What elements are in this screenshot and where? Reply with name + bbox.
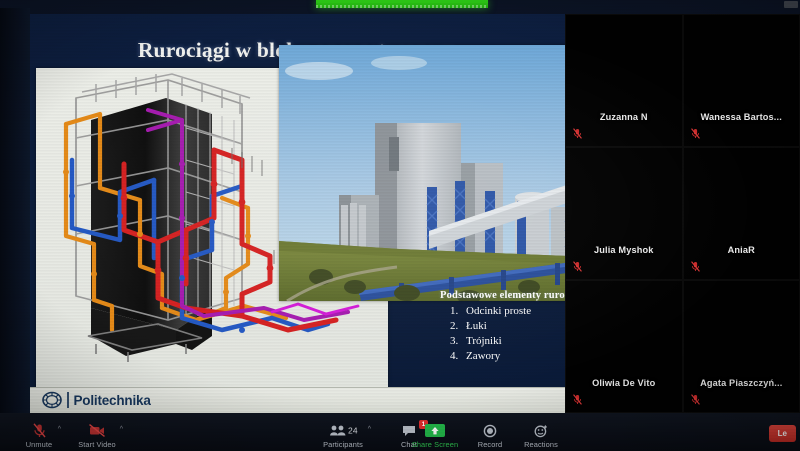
slide-footer: Politechnika	[30, 387, 565, 413]
reactions-label: Reactions	[506, 440, 576, 449]
participant-tile[interactable]: Agata Piaszczyń...	[683, 280, 800, 413]
gear-logo-icon	[42, 391, 62, 409]
politechnika-logo: Politechnika	[42, 391, 151, 409]
start-video-label: Start Video	[62, 440, 132, 449]
participant-name: AniaR	[684, 245, 800, 255]
bullet-heading: Podstawowe elementy rurociągu	[440, 290, 565, 301]
list-item-label: Trójniki	[466, 334, 502, 349]
participant-name: Agata Piaszczyń...	[684, 378, 800, 388]
list-item: 2. Łuki	[440, 319, 565, 334]
bullet-list: Podstawowe elementy rurociągu 1. Odcinki…	[440, 290, 565, 364]
participant-name: Julia Myshok	[566, 245, 682, 255]
list-item-number: 2.	[440, 319, 466, 334]
participant-name: Wanessa Bartos...	[684, 112, 800, 122]
svg-text:24: 24	[348, 426, 358, 436]
list-item-number: 4.	[440, 349, 466, 364]
list-item: 4. Zawory	[440, 349, 565, 364]
muted-mic-icon	[573, 261, 582, 272]
muted-mic-icon	[691, 261, 700, 272]
participant-tile[interactable]: Julia Myshok	[565, 147, 683, 280]
leave-meeting-button[interactable]: Le	[769, 425, 796, 442]
zoom-toolbar[interactable]: Unmute ^ Start Video ^ 24	[0, 413, 800, 451]
start-video-button[interactable]: Start Video ^	[62, 422, 132, 449]
participants-label: Participants	[308, 440, 378, 449]
power-plant-rendering-icon	[279, 45, 565, 301]
muted-mic-icon	[573, 128, 582, 139]
monitor-photo-screen: Rurociągi w bloku energetycznym	[0, 0, 800, 451]
list-item-label: Odcinki proste	[466, 304, 531, 319]
window-controls[interactable]	[784, 1, 798, 8]
participant-tile[interactable]: Oliwia De Vito	[565, 280, 683, 413]
screen-sharing-indicator-bar	[316, 0, 488, 8]
list-item-number: 1.	[440, 304, 466, 319]
reactions-icon	[506, 422, 576, 439]
participant-name: Oliwia De Vito	[566, 378, 682, 388]
muted-mic-icon	[573, 394, 582, 405]
participant-name: Zuzanna N	[566, 112, 682, 122]
list-item-label: Zawory	[466, 349, 500, 364]
participant-tile[interactable]: Wanessa Bartos...	[683, 14, 800, 147]
participant-tile[interactable]: Zuzanna N	[565, 14, 683, 147]
muted-mic-icon	[691, 128, 700, 139]
shared-slide[interactable]: Rurociągi w bloku energetycznym	[30, 14, 565, 413]
list-item-label: Łuki	[466, 319, 487, 334]
participants-gallery[interactable]: Zuzanna N Wanessa Bartos... Julia Myshok	[565, 14, 800, 413]
participants-button[interactable]: 24 Participants ^	[308, 422, 378, 449]
chevron-up-icon[interactable]: ^	[118, 426, 125, 433]
list-item-number: 3.	[440, 334, 466, 349]
leave-label: Le	[778, 429, 787, 438]
power-plant-photo	[279, 45, 565, 301]
reactions-button[interactable]: Reactions	[506, 422, 576, 449]
meeting-left-gutter	[0, 8, 30, 413]
chevron-up-icon[interactable]: ^	[366, 426, 373, 433]
list-item: 1. Odcinki proste	[440, 304, 565, 319]
participant-tile[interactable]: AniaR	[683, 147, 800, 280]
list-item: 3. Trójniki	[440, 334, 565, 349]
muted-mic-icon	[691, 394, 700, 405]
logo-text: Politechnika	[74, 393, 151, 408]
